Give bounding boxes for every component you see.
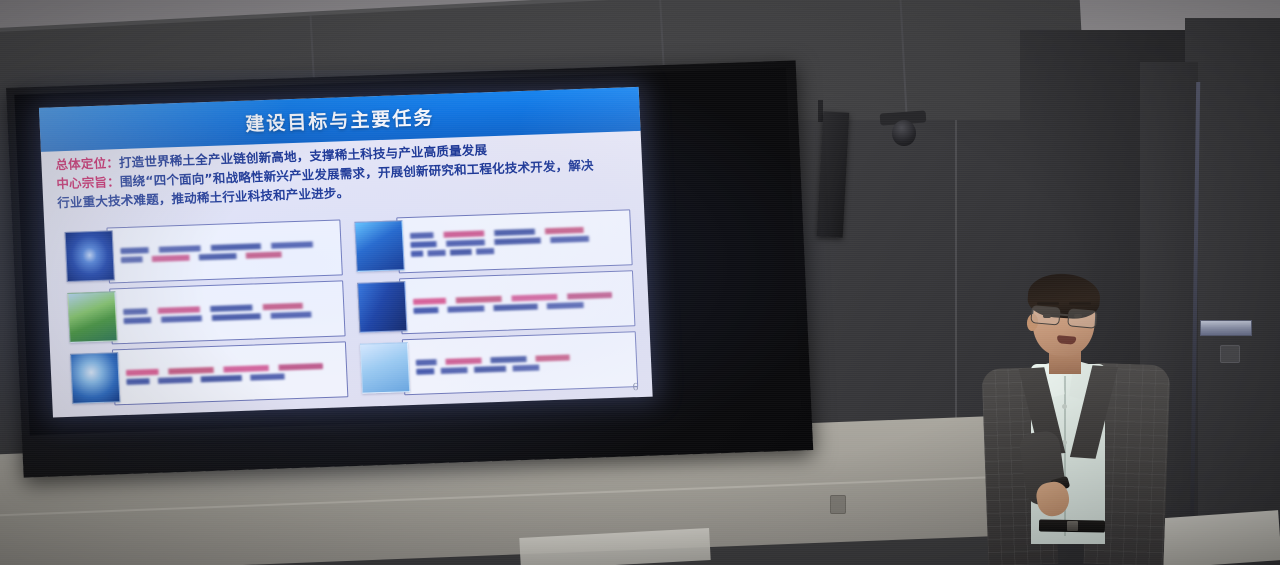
grid-cell-text — [109, 280, 345, 344]
people-walking-blue-thumbnail-icon — [360, 342, 410, 394]
grid-cell — [354, 209, 632, 275]
blurred-text-line — [416, 364, 549, 375]
eyeglass-lens — [1030, 305, 1060, 325]
grid-cell — [360, 331, 638, 397]
wall-panel-seam — [955, 120, 957, 450]
grid-cell-text — [396, 209, 632, 273]
slide-page-number: 6 — [632, 381, 638, 393]
grid-cell — [64, 219, 342, 285]
grid-cell-text — [402, 331, 638, 395]
blurred-text-line — [411, 248, 501, 257]
blue-globe-earth-thumbnail-icon — [70, 352, 120, 404]
door-card-reader[interactable] — [1220, 345, 1240, 363]
presenter — [975, 272, 1185, 565]
grid-cell — [70, 341, 348, 407]
grid-cell — [67, 280, 345, 346]
belt-buckle — [1067, 521, 1078, 531]
slide-body-label-2: 中心宗旨： — [56, 174, 120, 191]
data-center-binary-thumbnail-icon — [357, 281, 407, 333]
grid-cell-text — [112, 341, 348, 405]
eyebrow — [1069, 302, 1091, 305]
wall-plate[interactable] — [830, 495, 846, 514]
vortex-graphic-thumbnail-icon — [65, 230, 115, 282]
eyebrow — [1037, 302, 1059, 305]
shirt-button — [1062, 404, 1067, 409]
presentation-slide: 建设目标与主要任务 总体定位：打造世界稀土全产业链创新高地，支撑稀土科技与产业高… — [39, 87, 653, 418]
wall-display[interactable]: 建设目标与主要任务 总体定位：打造世界稀土全产业链创新高地，支撑稀土科技与产业高… — [6, 60, 813, 477]
conference-room-photo: 建设目标与主要任务 总体定位：打造世界稀土全产业链创新高地，支撑稀土科技与产业高… — [0, 0, 1280, 565]
wall-seam-line — [0, 473, 1082, 517]
grid-cell — [357, 270, 635, 336]
grid-cell-text — [399, 270, 635, 334]
shirt-placket — [1064, 376, 1066, 536]
eyeglass-lens — [1067, 308, 1097, 328]
dome-camera-icon — [892, 120, 916, 146]
green-landscape-building-thumbnail-icon — [67, 291, 117, 343]
blurred-text-line — [416, 353, 596, 365]
grid-cell-text — [106, 219, 342, 283]
slide-title: 建设目标与主要任务 — [245, 103, 435, 137]
slide-body-label-1: 总体定位： — [55, 155, 119, 172]
circuit-tech-graphic-thumbnail-icon — [354, 220, 404, 272]
slide-content-grid — [64, 209, 637, 399]
door-sign — [1200, 320, 1252, 336]
